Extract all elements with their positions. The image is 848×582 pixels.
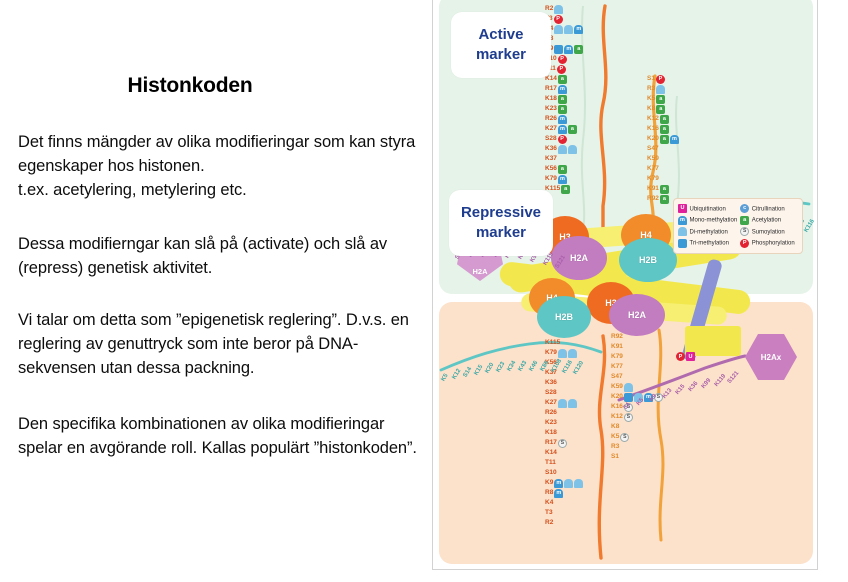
residue-row: K37 <box>545 154 557 164</box>
residue-row: R2 <box>545 4 563 14</box>
residue-row: K79 <box>545 348 577 358</box>
mono-methylation-icon: m <box>554 489 563 498</box>
residue-row: K79 <box>611 352 623 362</box>
residue-row: R26 <box>545 408 557 418</box>
residue-row: K91 <box>611 342 623 352</box>
residue-label: R26 <box>545 408 557 418</box>
residue-row: S1 <box>611 452 619 462</box>
residue-row: K5S <box>611 432 629 442</box>
legend-label: Ubiquitination <box>690 206 726 212</box>
phosphorylation-icon: P <box>554 15 563 24</box>
residue-row: K77 <box>611 362 623 372</box>
di-methylation-icon <box>564 25 573 34</box>
residue-label: K16 <box>647 124 659 134</box>
acetylation-icon: a <box>740 216 749 225</box>
legend-label: Acetylation <box>752 218 781 224</box>
residue-row: K59 <box>611 382 633 392</box>
residue-label: K20 <box>611 392 623 402</box>
residue-row: K59 <box>647 154 717 164</box>
tri-methylation-icon <box>554 45 563 54</box>
phosphorylation-icon: P <box>740 239 749 248</box>
residue-row: K5a <box>647 94 717 104</box>
mono-methylation-icon: m <box>558 125 567 134</box>
residue-row: S10 <box>545 468 557 478</box>
residue-label: K77 <box>647 164 659 174</box>
residue-label: K91 <box>611 342 623 352</box>
residue-label: K9 <box>545 478 553 488</box>
residue-label: R2 <box>545 4 553 14</box>
legend-item: cCitrullination <box>740 203 799 215</box>
residue-label: R3 <box>611 442 619 452</box>
sumoylation-icon: S <box>620 433 629 442</box>
residue-label: S47 <box>611 372 623 382</box>
acetylation-icon: a <box>656 95 665 104</box>
tri-methylation-icon <box>678 239 687 248</box>
active-marker-label: Activemarker <box>451 12 551 78</box>
residue-row: R3 <box>611 442 619 452</box>
di-methylation-icon <box>554 25 563 34</box>
acetylation-icon: a <box>558 165 567 174</box>
residue-label: K20 <box>647 134 659 144</box>
legend-label: Di-methylation <box>690 229 728 235</box>
residue-label: K115 <box>545 338 560 348</box>
residue-row: R3 <box>647 84 717 94</box>
sumoylation-icon: S <box>740 227 749 236</box>
acetylation-icon: a <box>558 75 567 84</box>
ubiquitination-icon: U <box>678 204 687 213</box>
residue-row: K14a <box>545 74 567 84</box>
residue-label: K77 <box>611 362 623 372</box>
residue-label: S28 <box>545 388 557 398</box>
residue-label: K79 <box>545 174 557 184</box>
di-methylation-icon <box>568 349 577 358</box>
residue-row: K8 <box>611 422 619 432</box>
legend-item: Di-methylation <box>678 226 737 238</box>
residue-label: K36 <box>545 144 557 154</box>
residue-label: K79 <box>545 348 557 358</box>
di-methylation-icon <box>678 227 687 236</box>
mono-methylation-icon: m <box>558 115 567 124</box>
h3-active-residue-chain: R2T3PK4mR8K9maS10PT11PK14aR17mK18aK23aR2… <box>545 4 611 194</box>
acetylation-icon: a <box>660 185 669 194</box>
residue-label: K79 <box>611 352 623 362</box>
residue-row: R92 <box>611 332 623 342</box>
residue-label: S1 <box>611 452 619 462</box>
legend-label: Sumoylation <box>752 229 785 235</box>
residue-row: K12a <box>647 114 717 124</box>
residue-row: K23 <box>545 418 557 428</box>
tri-methylation-icon <box>624 393 633 402</box>
residue-label: R3 <box>647 84 655 94</box>
text-column: Histonkoden Det finns mängder av olika m… <box>0 0 428 582</box>
residue-label: K8 <box>611 422 619 432</box>
residue-label: K27 <box>545 124 557 134</box>
legend-label: Phosphorylation <box>752 241 795 247</box>
di-methylation-icon <box>554 5 563 14</box>
residue-row: K79 <box>647 174 717 184</box>
acetylation-icon: a <box>568 125 577 134</box>
di-methylation-icon <box>558 399 567 408</box>
di-methylation-icon <box>574 479 583 488</box>
residue-row: R17m <box>545 84 567 94</box>
di-methylation-icon <box>568 399 577 408</box>
legend-item: mMono-methylation <box>678 215 737 227</box>
residue-label: K14 <box>545 448 557 458</box>
di-methylation-icon <box>656 85 665 94</box>
residue-row: K115 <box>545 338 560 348</box>
di-methylation-icon <box>624 383 633 392</box>
h4-active-residue-chain: S1PR3K5aK8aK12aK16aK20amS47K59K77K79K91a… <box>647 74 717 204</box>
residue-label: S28 <box>545 134 557 144</box>
residue-label: K79 <box>647 174 659 184</box>
residue-label: K59 <box>611 382 623 392</box>
residue-label: K36 <box>545 378 557 388</box>
residue-row: R2 <box>545 518 553 528</box>
residue-row: S1P <box>647 74 717 84</box>
legend-item: PPhosphorylation <box>740 238 799 250</box>
legend-label: Citrullination <box>752 206 785 212</box>
residue-row: K36 <box>545 378 557 388</box>
mono-methylation-icon: m <box>558 175 567 184</box>
residue-row: K79m <box>545 174 567 184</box>
residue-row: K36 <box>545 144 577 154</box>
mono-methylation-icon: m <box>554 479 563 488</box>
residue-label: K91 <box>647 184 659 194</box>
residue-row: K91a <box>647 184 717 194</box>
phosphorylation-icon: P <box>558 55 567 64</box>
residue-row: K9m <box>545 478 583 488</box>
sumoylation-icon: S <box>558 439 567 448</box>
residue-label: K23 <box>545 418 557 428</box>
residue-row: R26m <box>545 114 567 124</box>
legend-box: UUbiquitinationcCitrullinationmMono-meth… <box>673 198 803 254</box>
di-methylation-icon <box>568 145 577 154</box>
residue-label: K5 <box>647 94 655 104</box>
paragraph-3: Vi talar om detta som ”epigenetisk regle… <box>18 308 430 380</box>
residue-row: S28 <box>545 388 557 398</box>
residue-label: K4 <box>545 498 553 508</box>
residue-row: K4 <box>545 498 553 508</box>
residue-row: R8m <box>545 488 563 498</box>
acetylation-icon: a <box>660 195 669 204</box>
residue-label: R17 <box>545 438 557 448</box>
residue-row: K14 <box>545 448 557 458</box>
residue-row: K27 <box>545 398 577 408</box>
residue-row: K56a <box>545 164 567 174</box>
residue-row: T11 <box>545 458 556 468</box>
mono-methylation-icon: m <box>564 45 573 54</box>
residue-row: S47 <box>647 144 717 154</box>
legend-item: Tri-methylation <box>678 238 737 250</box>
residue-label: R17 <box>545 84 557 94</box>
residue-label: S1 <box>647 74 655 84</box>
acetylation-icon: a <box>561 185 570 194</box>
residue-label: K8 <box>647 104 655 114</box>
acetylation-icon: a <box>660 135 669 144</box>
residue-label: T11 <box>545 458 556 468</box>
residue-label: S47 <box>647 144 659 154</box>
residue-label: K18 <box>545 94 557 104</box>
phosphorylation-icon: P <box>558 135 567 144</box>
residue-label: K59 <box>647 154 659 164</box>
residue-row: K20am <box>647 134 717 144</box>
residue-row: K12S <box>611 412 633 422</box>
residue-label: K12 <box>611 412 623 422</box>
residue-label: K56 <box>545 164 557 174</box>
residue-row: K23a <box>545 104 567 114</box>
residue-row: T3 <box>545 508 553 518</box>
residue-label: K12 <box>647 114 659 124</box>
residue-row: K77 <box>647 164 717 174</box>
residue-label: R26 <box>545 114 557 124</box>
residue-label: T3 <box>545 508 553 518</box>
residue-row: K18 <box>545 428 557 438</box>
acetylation-icon: a <box>558 105 567 114</box>
paragraph-1: Det finns mängder av olika modifieringar… <box>18 130 430 202</box>
acetylation-icon: a <box>660 125 669 134</box>
residue-label: R92 <box>647 194 659 204</box>
tail-strokes <box>433 0 818 570</box>
legend-label: Tri-methylation <box>690 241 729 247</box>
residue-row: K8a <box>647 104 717 114</box>
nucleosome-figure: H3 H4 H2A H2B H4 H3 H2B H2A H2A H2Ax P P… <box>432 0 818 570</box>
residue-label: K23 <box>545 104 557 114</box>
acetylation-icon: a <box>660 115 669 124</box>
phosphorylation-icon: P <box>656 75 665 84</box>
acetylation-icon: a <box>558 95 567 104</box>
di-methylation-icon <box>564 479 573 488</box>
mono-methylation-icon: m <box>678 216 687 225</box>
residue-row: R17S <box>545 438 567 448</box>
residue-row: S28P <box>545 134 567 144</box>
page-title: Histonkoden <box>0 74 380 98</box>
residue-label: R92 <box>611 332 623 342</box>
paragraph-4: Den specifika kombinationen av olika mod… <box>18 412 430 460</box>
residue-label: R8 <box>545 488 553 498</box>
legend-label: Mono-methylation <box>690 218 738 224</box>
citrullination-icon: c <box>740 204 749 213</box>
residue-row: K18a <box>545 94 567 104</box>
residue-label: K18 <box>545 428 557 438</box>
paragraph-2: Dessa modifierngar kan slå på (activate)… <box>18 232 430 280</box>
legend-item: UUbiquitination <box>678 203 737 215</box>
acetylation-icon: a <box>574 45 583 54</box>
di-methylation-icon <box>558 349 567 358</box>
legend-item: aAcetylation <box>740 215 799 227</box>
residue-label: S10 <box>545 468 557 478</box>
acetylation-icon: a <box>656 105 665 114</box>
mono-methylation-icon: m <box>558 85 567 94</box>
residue-row: S47 <box>611 372 623 382</box>
legend-item: SSumoylation <box>740 226 799 238</box>
mono-methylation-icon: m <box>574 25 583 34</box>
phosphorylation-icon: P <box>557 65 566 74</box>
sumoylation-icon: S <box>624 413 633 422</box>
repressive-marker-label: Repressivemarker <box>449 190 553 256</box>
residue-label: K37 <box>545 154 557 164</box>
residue-label: K27 <box>545 398 557 408</box>
residue-row: K16a <box>647 124 717 134</box>
residue-label: K16 <box>611 402 623 412</box>
residue-label: R2 <box>545 518 553 528</box>
residue-row: K27ma <box>545 124 577 134</box>
slide-root: Histonkoden Det finns mängder av olika m… <box>0 0 848 582</box>
residue-label: K5 <box>611 432 619 442</box>
di-methylation-icon <box>558 145 567 154</box>
mono-methylation-icon: m <box>670 135 679 144</box>
